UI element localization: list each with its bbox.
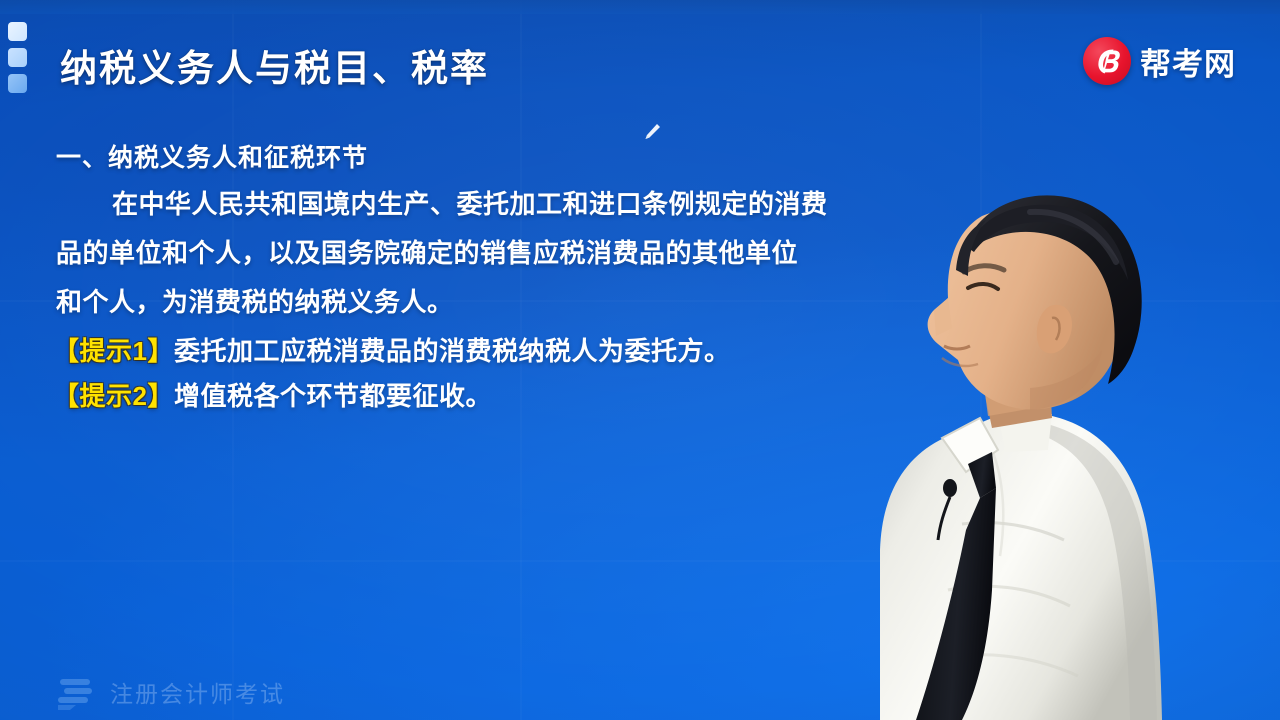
tip-text: 委托加工应税消费品的消费税纳税人为委托方。 xyxy=(174,336,731,366)
tip-tag: 【提示2】 xyxy=(53,381,174,411)
body-line: 和个人，为消费税的纳税义务人。 xyxy=(56,278,956,327)
tip-line-1: 【提示1】委托加工应税消费品的消费税纳税人为委托方。 xyxy=(53,329,730,374)
brand-name: 帮考网 xyxy=(1140,39,1236,84)
body-line: 品的单位和个人，以及国务院确定的销售应税消费品的其他单位 xyxy=(56,229,956,278)
section-heading: 一、纳税义务人和征税环节 xyxy=(56,138,368,174)
watermark: 注册会计师考试 xyxy=(56,674,285,710)
slide-title: 纳税义务人与税目、税率 xyxy=(60,38,489,92)
brand-logo: 帮考网 xyxy=(1083,37,1236,85)
lecture-video-frame: 纳税义务人与税目、税率 帮考网 一、纳税义务人和征税环节 在中华人民共和国境内生… xyxy=(0,0,1280,720)
decorative-square-3 xyxy=(8,74,27,93)
tip-line-2: 【提示2】增值税各个环节都要征收。 xyxy=(53,374,730,419)
decorative-squares xyxy=(8,22,27,93)
body-line: 在中华人民共和国境内生产、委托加工和进口条例规定的消费 xyxy=(56,180,956,229)
slide-tips: 【提示1】委托加工应税消费品的消费税纳税人为委托方。 【提示2】增值税各个环节都… xyxy=(53,329,730,419)
decorative-square-1 xyxy=(8,22,27,41)
brand-mark-icon xyxy=(1083,37,1131,85)
backdrop-top-band xyxy=(0,0,1280,14)
stylus-cursor-icon xyxy=(641,121,663,143)
watermark-text: 注册会计师考试 xyxy=(110,675,285,709)
slide-body: 在中华人民共和国境内生产、委托加工和进口条例规定的消费 品的单位和个人，以及国务… xyxy=(56,180,956,327)
decorative-square-2 xyxy=(8,48,27,67)
tip-text: 增值税各个环节都要征收。 xyxy=(174,381,492,411)
stacked-books-icon xyxy=(56,674,98,710)
tip-tag: 【提示1】 xyxy=(53,336,174,366)
